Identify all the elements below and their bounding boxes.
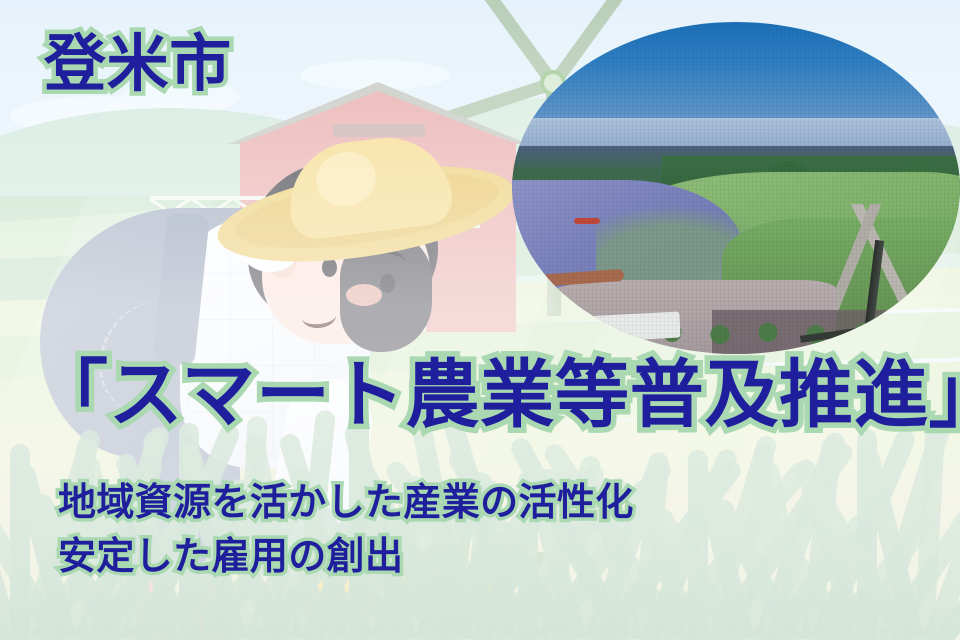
photo-building-region xyxy=(516,304,570,320)
photo-tower-marker-region xyxy=(856,336,872,343)
circular-aerial-photo xyxy=(512,22,960,354)
farmer-eye-shape xyxy=(380,274,395,293)
poster-canvas: 登米市 「スマート農業等普及推進」 地域資源を活かした産業の活性化 安定した雇用… xyxy=(0,0,960,640)
subtitle-line-1: 地域資源を活かした産業の活性化 xyxy=(58,484,634,522)
photo-boat-region xyxy=(574,218,600,224)
page-title: 「スマート農業等普及推進」 xyxy=(34,358,960,432)
subtitle-line-2: 安定した雇用の創出 xyxy=(58,538,403,576)
city-label: 登米市 xyxy=(44,34,232,96)
straw-hat-illustration xyxy=(216,138,516,256)
photo-building-region xyxy=(583,312,680,343)
